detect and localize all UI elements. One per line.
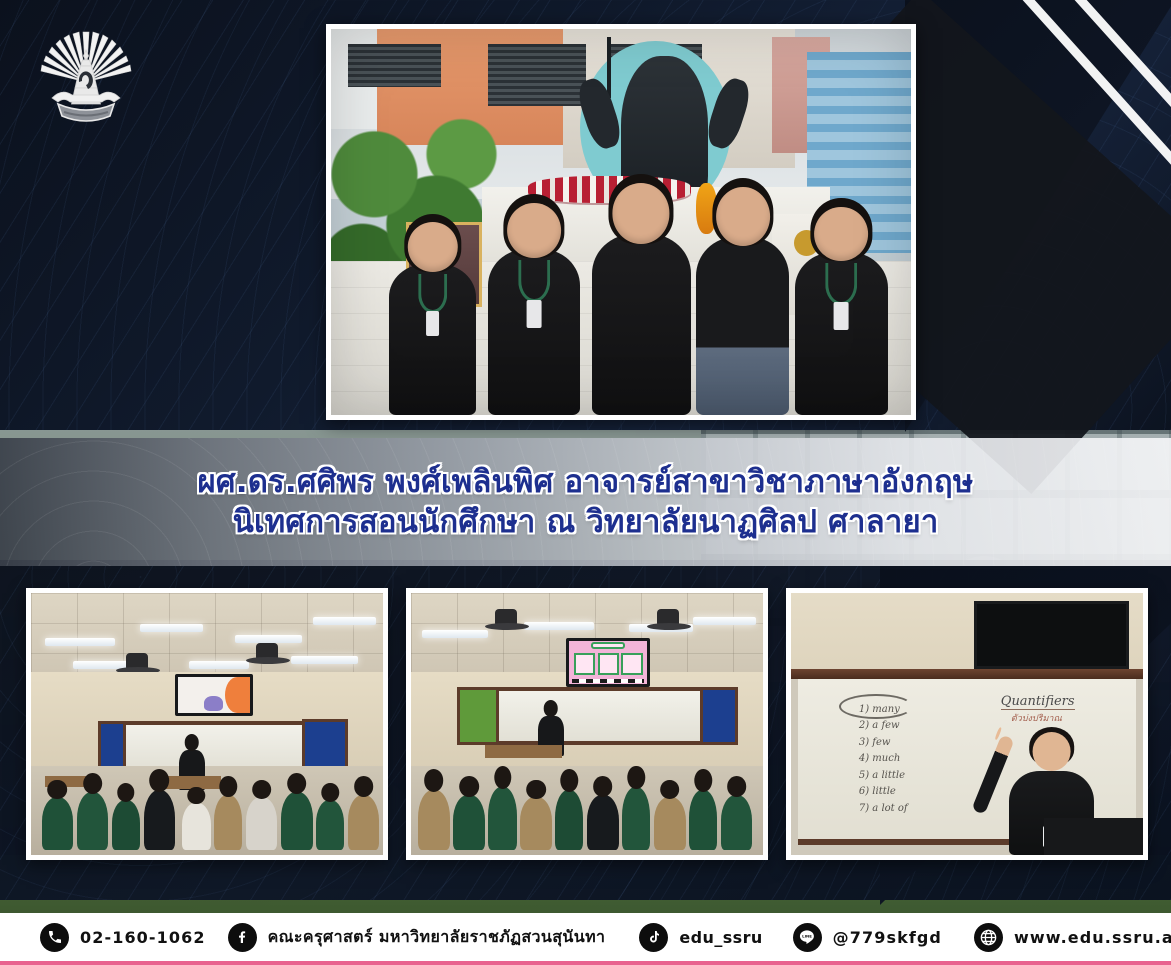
student <box>182 803 210 850</box>
person-lanyard <box>518 260 550 302</box>
person-body <box>696 237 789 415</box>
ceiling-light <box>235 635 302 643</box>
line-id: @779skfgd <box>833 928 942 947</box>
person-head <box>613 183 670 243</box>
list-item: 1) many <box>859 702 908 719</box>
groups-slide <box>569 641 647 685</box>
hero-photo-frame <box>326 24 916 420</box>
student <box>77 792 109 850</box>
list-item: 5) a little <box>859 768 908 785</box>
student <box>418 790 450 850</box>
slide-footer-strip <box>572 679 644 683</box>
student <box>348 795 380 850</box>
photo-louver-1 <box>348 44 441 86</box>
phone-icon <box>40 923 69 952</box>
footer-phone[interactable]: 02-160-1062 <box>40 923 206 952</box>
ceiling-light <box>524 622 594 630</box>
footer-line[interactable]: LINE @779skfgd <box>793 923 942 952</box>
person-id-badge <box>834 302 849 329</box>
slide-column <box>574 653 595 675</box>
person-3 <box>592 183 691 415</box>
poster-canvas: ผศ.ดร.ศศิพร พงศ์เพลินพิศ อาจารย์สาขาวิชา… <box>0 0 1171 965</box>
person-head <box>507 203 561 258</box>
student <box>112 800 140 850</box>
group-photo-at-ganesha-shrine <box>331 29 911 415</box>
list-item: 4) much <box>859 751 908 768</box>
podium <box>1044 818 1143 855</box>
person-id-badge <box>426 311 440 336</box>
photo-gallery: Quantifiers ตัวบ่งปริมาณ 1) many 2) a fe… <box>0 588 1171 870</box>
footer-website[interactable]: www.edu.ssru.ac.th <box>974 923 1171 952</box>
tiktok-handle: edu_ssru <box>679 928 762 947</box>
tiktok-icon <box>639 923 668 952</box>
ceiling-fan <box>495 609 517 627</box>
slide-column <box>621 653 642 675</box>
ssru-university-crest-logo <box>38 26 134 130</box>
student <box>622 787 650 850</box>
svg-text:LINE: LINE <box>802 934 812 939</box>
footer-facebook[interactable]: คณะครุศาสตร์ มหาวิทยาลัยราชภัฏสวนสุนันทา <box>228 923 606 952</box>
ceiling-light <box>140 624 203 632</box>
list-item: 7) a lot of <box>859 801 908 818</box>
teacher-head <box>543 700 558 717</box>
person-id-badge <box>527 300 542 328</box>
blue-board <box>700 687 739 745</box>
front-table <box>485 745 562 758</box>
person-1 <box>389 222 476 415</box>
photo-trident <box>607 37 611 99</box>
student <box>689 790 717 850</box>
bulletin-board-right <box>302 719 348 771</box>
slide-image <box>178 677 249 713</box>
ceiling-fan <box>126 653 148 671</box>
photo-content: Quantifiers ตัวบ่งปริมาณ 1) many 2) a fe… <box>791 593 1143 855</box>
student <box>316 800 344 850</box>
line-icon: LINE <box>793 923 822 952</box>
green-board <box>457 687 499 745</box>
ceiling-light <box>45 638 115 646</box>
student <box>281 792 313 850</box>
person-body <box>592 234 691 415</box>
footer-tiktok[interactable]: edu_ssru <box>639 923 762 952</box>
student <box>555 790 583 850</box>
teacher-head <box>185 734 200 751</box>
contact-footer-bar: 02-160-1062 คณะครุศาสตร์ มหาวิทยาลัยราชภ… <box>0 913 1171 965</box>
ceiling-light <box>422 630 489 638</box>
title-line-1: ผศ.ดร.ศศิพร พงศ์เพลินพิศ อาจารย์สาขาวิชา… <box>198 462 974 502</box>
title-line-2: นิเทศการสอนนักศึกษา ณ วิทยาลัยนาฏศิลป ศา… <box>233 502 939 542</box>
facebook-page-name: คณะครุศาสตร์ มหาวิทยาลัยราชภัฏสวนสุนันทา <box>268 925 606 950</box>
student <box>587 795 619 850</box>
teacher-head <box>1032 732 1071 771</box>
whiteboard-heading: Quantifiers <box>1001 694 1075 710</box>
list-item: 2) a few <box>859 718 908 735</box>
slide-column <box>598 653 619 675</box>
person-5 <box>795 207 888 415</box>
tv-screen <box>566 638 650 688</box>
ceiling-fan <box>657 609 679 627</box>
student <box>488 787 516 850</box>
whiteboard-quantifier-list: 1) many 2) a few 3) few 4) much 5) a lit… <box>859 702 908 818</box>
list-item: 3) few <box>859 735 908 752</box>
student <box>214 795 242 850</box>
board-rail <box>791 669 1143 679</box>
person-lanyard <box>418 274 448 313</box>
student <box>144 790 176 850</box>
ceiling-fan <box>256 643 278 661</box>
photo-louver-2 <box>488 44 587 106</box>
tv-screen <box>974 601 1129 669</box>
globe-icon <box>974 923 1003 952</box>
student <box>721 795 753 850</box>
ceiling-light <box>189 661 249 669</box>
facebook-icon <box>228 923 257 952</box>
student <box>453 795 485 850</box>
student <box>654 797 686 849</box>
person-4 <box>696 187 789 415</box>
ceiling-light <box>313 617 376 625</box>
person-2 <box>488 203 581 415</box>
ceiling-light <box>291 656 358 664</box>
phone-number: 02-160-1062 <box>80 928 206 947</box>
slide-title-box <box>591 642 626 649</box>
projector-screen <box>175 674 252 716</box>
student <box>42 797 74 849</box>
person-head <box>716 187 770 246</box>
list-item: 6) little <box>859 784 908 801</box>
classroom-group-activity-photo <box>406 588 768 860</box>
student <box>520 797 552 849</box>
ceiling-light <box>693 617 756 625</box>
student <box>246 797 278 849</box>
person-lanyard <box>826 263 858 305</box>
whiteboard-quantifiers-photo: Quantifiers ตัวบ่งปริมาณ 1) many 2) a fe… <box>786 588 1148 860</box>
person-head <box>814 207 868 261</box>
title-banner: ผศ.ดร.ศศิพร พงศ์เพลินพิศ อาจารย์สาขาวิชา… <box>0 438 1171 566</box>
photo-content <box>411 593 763 855</box>
classroom-lecture-photo <box>26 588 388 860</box>
photo-content <box>31 593 383 855</box>
website-url: www.edu.ssru.ac.th <box>1014 928 1171 947</box>
